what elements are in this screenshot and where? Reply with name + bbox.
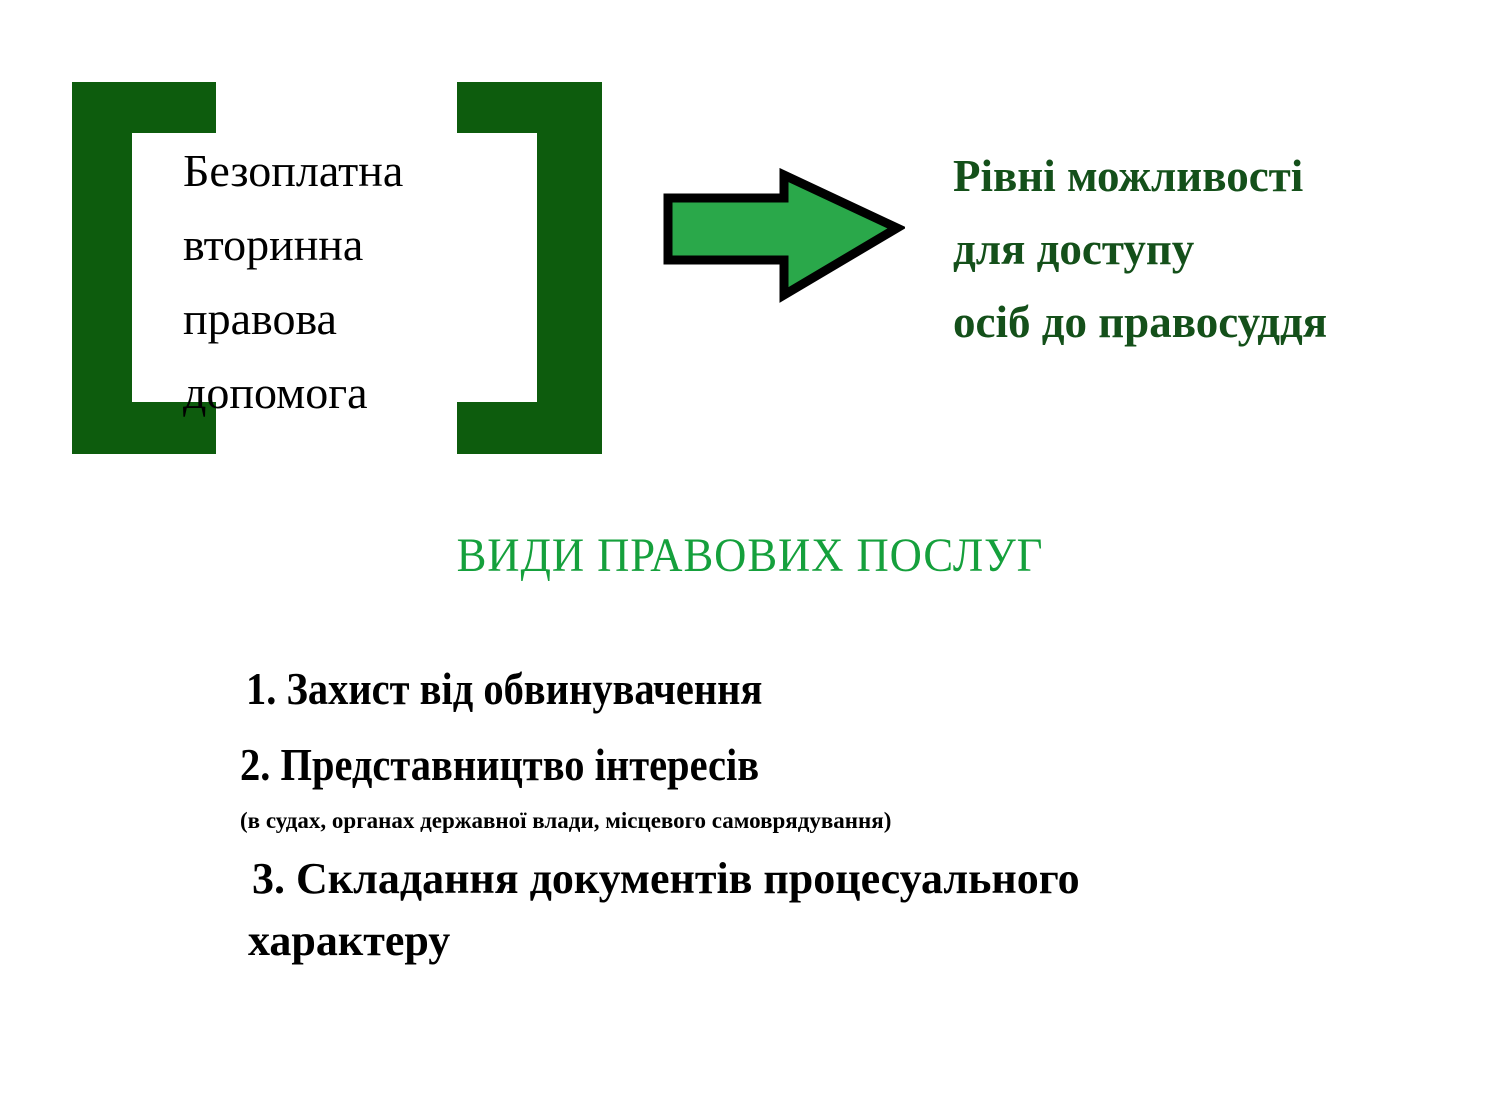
services-block: ВИДИ ПРАВОВИХ ПОСЛУГ 1. Захист від обвин… xyxy=(0,528,1500,972)
right-bracket-spine xyxy=(537,82,602,454)
services-title: ВИДИ ПРАВОВИХ ПОСЛУГ xyxy=(53,528,1448,584)
service-item-3: 3. Складання документів процесуального xyxy=(252,848,1500,910)
service-item-2: 2. Представництво інтересів xyxy=(240,732,1349,798)
service-item-1: 1. Захист від обвинувачення xyxy=(246,656,1350,722)
slide-canvas: Безоплатна вторинна правова допомога Рів… xyxy=(0,0,1500,1100)
left-bracket-spine xyxy=(72,82,132,454)
headline-text: Рівні можливості для доступу осіб до пра… xyxy=(953,140,1483,359)
service-item-2-note: (в судах, органах державної влади, місце… xyxy=(240,806,1500,836)
service-item-3-continued: характеру xyxy=(248,910,1500,972)
left-bracket-top-arm xyxy=(132,82,216,133)
right-arrow-icon xyxy=(660,168,905,304)
right-bracket-top-arm xyxy=(457,82,537,133)
bracket-label: Безоплатна вторинна правова допомога xyxy=(183,134,513,430)
